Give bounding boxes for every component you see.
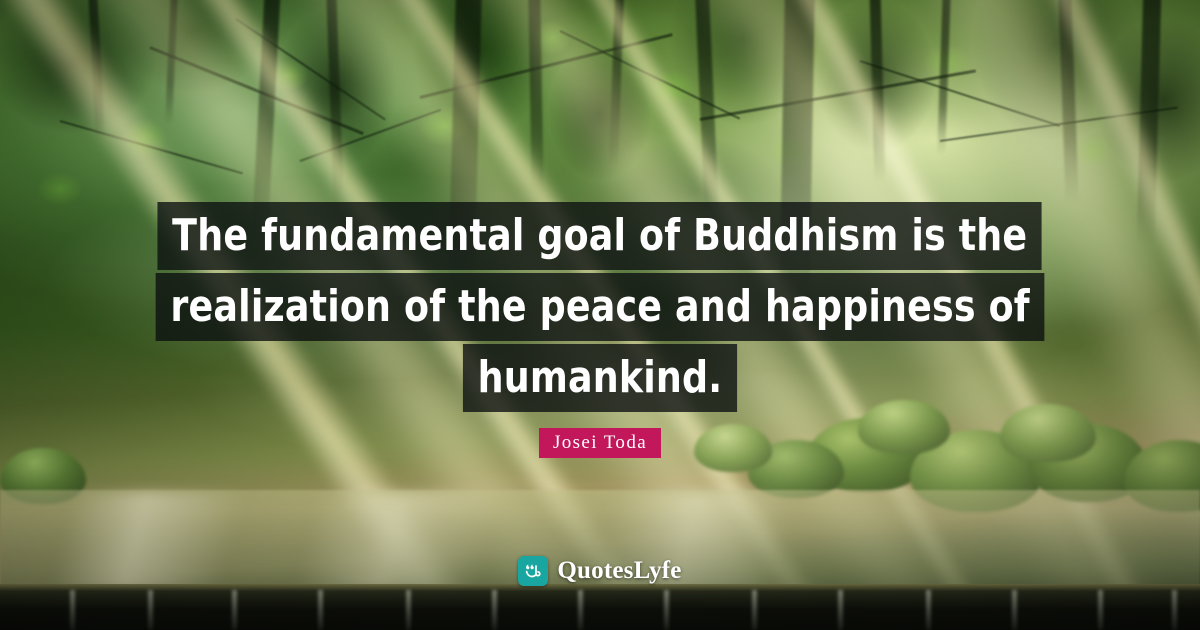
quote-text: The fundamental goal of Buddhism is the … bbox=[0, 202, 1200, 415]
author-attribution: Josei Toda bbox=[0, 428, 1200, 458]
quotation-marks-icon bbox=[518, 556, 548, 586]
author-name-badge: Josei Toda bbox=[539, 428, 661, 458]
quote-line-1: The fundamental goal of Buddhism is the bbox=[158, 202, 1043, 270]
brand-watermark: QuotesLyfe bbox=[0, 556, 1200, 586]
quote-card: The fundamental goal of Buddhism is the … bbox=[0, 0, 1200, 630]
quote-line-row: realization of the peace and happiness o… bbox=[0, 273, 1200, 341]
quote-line-row: The fundamental goal of Buddhism is the bbox=[0, 202, 1200, 270]
quote-line-row: humankind. bbox=[0, 344, 1200, 412]
brand-name: QuotesLyfe bbox=[557, 557, 681, 585]
quote-line-3: humankind. bbox=[463, 344, 737, 412]
quote-line-2: realization of the peace and happiness o… bbox=[156, 273, 1045, 341]
